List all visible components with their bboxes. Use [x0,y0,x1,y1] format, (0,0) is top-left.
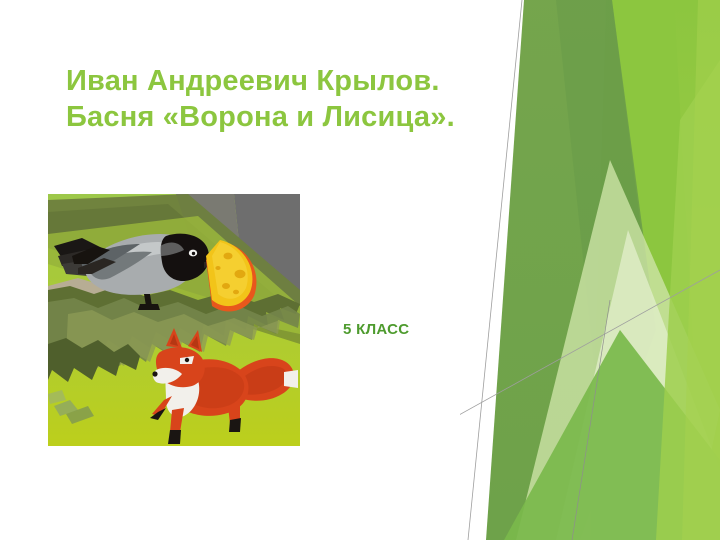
cheese-hole-1 [224,253,233,260]
slide-title[interactable]: Иван Андреевич Крылов. Басня «Ворона и Л… [66,63,536,135]
slide: Иван Андреевич Крылов. Басня «Ворона и Л… [0,0,720,540]
fox-tail-tip [284,370,298,388]
decor-band-bright-right [610,0,720,540]
cheese-hole-5 [215,266,220,270]
decor-band-highlight [656,60,720,540]
decor-band-edge [682,0,720,540]
fox-front-paw [168,430,181,444]
fox-hind-paw [229,418,241,432]
decor-band-green-mid-lower [504,330,720,540]
cheese-hole-3 [222,283,230,289]
decor-band-bright-mid [590,0,704,540]
crow-eye-pupil [192,252,195,255]
decor-hairline-2 [460,270,720,420]
decor-band-olive-shade [556,0,650,420]
title-line-1: Иван Андреевич Крылов. [66,63,536,99]
fable-illustration[interactable] [48,194,300,446]
crow-foot [138,304,160,310]
title-line-2: Басня «Ворона и Лисица». [66,99,536,135]
slide-subtitle[interactable]: 5 КЛАСС [343,320,543,340]
fox-eye-pupil [185,358,189,362]
cheese-hole-2 [235,270,246,278]
subtitle-label: 5 КЛАСС [343,320,543,340]
cheese-hole-4 [233,290,239,295]
decor-band-palest [556,230,720,540]
decor-band-pale-lower [516,160,720,540]
decor-hairline-3 [572,300,610,540]
fox-nose [152,371,157,376]
